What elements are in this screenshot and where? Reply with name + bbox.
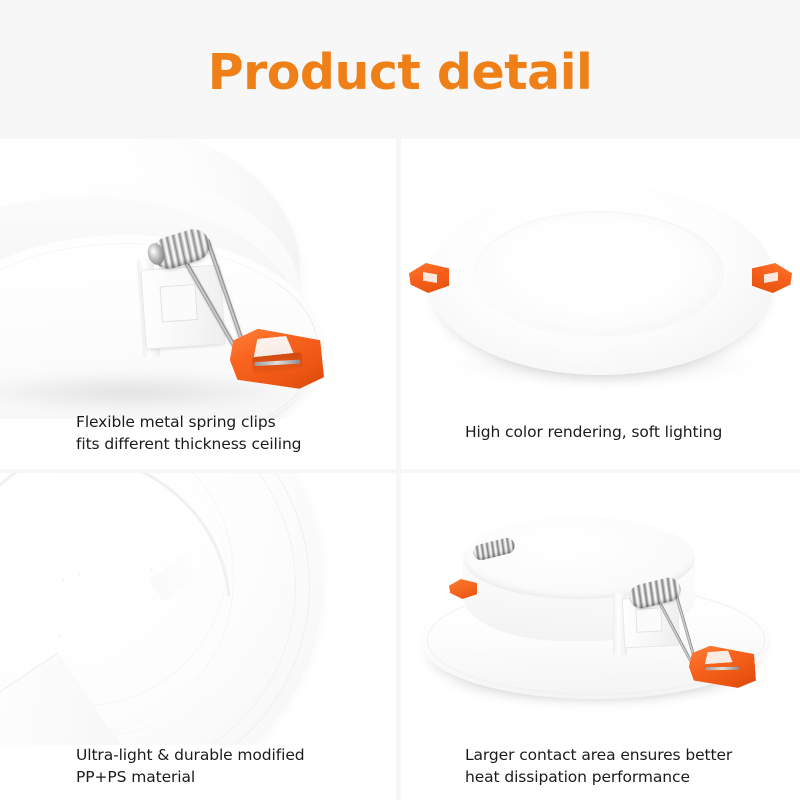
orange-clip-right	[752, 263, 792, 293]
downlight-diffuser-lens	[485, 219, 713, 329]
orange-retaining-clip	[688, 643, 757, 691]
surface-speck	[150, 569, 152, 571]
detail-panel-color-rendering: High color rendering, soft lighting	[401, 139, 800, 469]
caption-line: Ultra-light & durable modified	[76, 745, 396, 766]
surface-speck	[58, 635, 60, 637]
surface-speck	[62, 579, 64, 581]
caption-line: fits different thickness ceiling	[76, 434, 396, 455]
product-detail-page: Product detail	[0, 0, 800, 800]
caption-line: High color rendering, soft lighting	[465, 422, 800, 443]
caption-spring-clips: Flexible metal spring clips fits differe…	[0, 412, 396, 455]
detail-panel-spring-clips: Flexible metal spring clips fits differe…	[0, 139, 396, 469]
page-title: Product detail	[208, 48, 593, 97]
product-photo-front-view	[401, 139, 800, 419]
detail-panel-heat-dissipation: Larger contact area ensures better heat …	[401, 473, 800, 800]
caption-line: Flexible metal spring clips	[76, 412, 396, 433]
caption-line: Larger contact area ensures better	[465, 745, 800, 766]
caption-heat-dissipation: Larger contact area ensures better heat …	[401, 745, 800, 788]
clip-shell	[449, 579, 477, 599]
orange-clip-rear	[449, 579, 477, 599]
clip-metal-bar	[705, 667, 739, 671]
caption-material: Ultra-light & durable modified PP+PS mat…	[0, 745, 396, 788]
caption-color-rendering: High color rendering, soft lighting	[401, 422, 800, 443]
page-header: Product detail	[0, 0, 800, 139]
orange-retaining-clip	[227, 322, 325, 395]
product-photo-three-quarter-view	[401, 473, 800, 745]
clip-notch	[704, 650, 733, 664]
product-photo-spring-clips	[0, 139, 396, 419]
product-detail-grid: Flexible metal spring clips fits differe…	[0, 139, 800, 800]
surface-speck	[78, 573, 80, 575]
product-photo-material-macro	[0, 473, 396, 745]
caption-line: heat dissipation performance	[465, 767, 800, 788]
caption-line: PP+PS material	[76, 767, 396, 788]
detail-panel-material: Ultra-light & durable modified PP+PS mat…	[0, 473, 396, 800]
orange-clip-left	[409, 263, 449, 293]
